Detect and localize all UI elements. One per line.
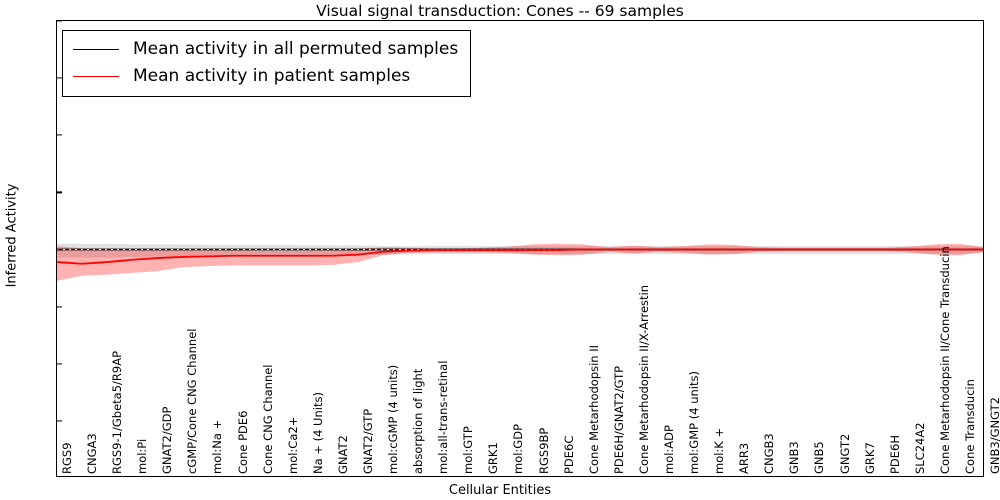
x-tick-label: cGMP/Cone CNG Channel xyxy=(185,329,199,474)
x-tick-mark xyxy=(182,476,183,477)
x-tick-label: PDE6H/GNAT2/GTP xyxy=(612,366,626,474)
x-tick-label: CNGB3 xyxy=(762,433,776,474)
chart-legend: Mean activity in all permuted samples Me… xyxy=(62,30,471,97)
legend-label-patient: Mean activity in patient samples xyxy=(133,68,410,85)
x-tick-mark xyxy=(107,476,108,477)
x-tick-label: GNAT2/GTP xyxy=(361,409,375,474)
x-tick-mark xyxy=(258,476,259,477)
x-tick-label: mol:GDP xyxy=(511,424,525,474)
x-tick-mark xyxy=(659,476,660,477)
x-tick-label: RGS9-1/Gbeta5/R9AP xyxy=(110,351,124,474)
x-tick-label: mol:cGMP (4 units) xyxy=(386,365,400,474)
y-tick-mark xyxy=(57,192,62,193)
x-tick-label: mol:K + xyxy=(712,428,726,474)
x-tick-mark xyxy=(458,476,459,477)
x-tick-mark xyxy=(835,476,836,477)
x-tick-mark xyxy=(709,476,710,477)
x-tick-label: mol:GMP (4 units) xyxy=(687,371,701,474)
x-tick-label: PDE6C xyxy=(562,436,576,474)
x-tick-mark xyxy=(684,476,685,477)
legend-swatch-permuted xyxy=(73,49,119,50)
x-tick-label: GNB5 xyxy=(812,441,826,474)
x-tick-label: Cone CNG Channel xyxy=(261,365,275,475)
chart-title: Visual signal transduction: Cones -- 69 … xyxy=(0,2,1000,20)
legend-item-patient: Mean activity in patient samples xyxy=(73,63,458,90)
x-tick-label: Cone Metarhodopsin II/X-Arrestin xyxy=(637,285,651,474)
x-axis-label: Cellular Entities xyxy=(0,483,1000,498)
x-tick-label: absorption of light xyxy=(411,369,425,474)
x-tick-label: mol:Ca2+ xyxy=(286,417,300,474)
y-tick-mark xyxy=(57,306,62,307)
y-tick-mark xyxy=(57,135,62,136)
x-tick-mark xyxy=(960,476,961,477)
x-tick-mark xyxy=(233,476,234,477)
x-tick-label: PDE6H xyxy=(888,435,902,474)
x-tick-label: GNB3/GNGT2 xyxy=(988,397,1000,474)
x-tick-mark xyxy=(508,476,509,477)
x-tick-mark xyxy=(609,476,610,477)
x-tick-label: GNB3 xyxy=(787,441,801,474)
x-tick-mark xyxy=(935,476,936,477)
x-tick-label: Cone Metarhodopsin II/Cone Transducin xyxy=(938,246,952,474)
x-tick-label: mol:Na + xyxy=(210,420,224,474)
legend-label-permuted: Mean activity in all permuted samples xyxy=(133,41,458,58)
x-tick-mark xyxy=(534,476,535,477)
legend-swatch-patient xyxy=(73,76,119,77)
x-tick-mark xyxy=(408,476,409,477)
x-tick-mark xyxy=(333,476,334,477)
x-tick-mark xyxy=(132,476,133,477)
x-tick-mark xyxy=(584,476,585,477)
x-tick-mark xyxy=(734,476,735,477)
x-tick-mark xyxy=(308,476,309,477)
x-tick-mark xyxy=(559,476,560,477)
x-tick-label: RGS9 xyxy=(60,442,74,474)
x-tick-mark xyxy=(809,476,810,477)
x-tick-mark xyxy=(57,476,58,477)
x-tick-label: GRK7 xyxy=(863,442,877,474)
chart-figure: Visual signal transduction: Cones -- 69 … xyxy=(0,0,1000,500)
x-tick-label: GNGT2 xyxy=(838,434,852,474)
x-tick-label: CNGA3 xyxy=(85,433,99,474)
x-tick-label: Cone Metarhodopsin II xyxy=(587,345,601,474)
x-tick-label: ARR3 xyxy=(737,443,751,474)
x-tick-mark xyxy=(82,476,83,477)
x-tick-label: Cone Transducin xyxy=(963,379,977,474)
x-tick-label: mol:GTP xyxy=(461,426,475,474)
x-tick-mark xyxy=(885,476,886,477)
x-tick-mark xyxy=(483,476,484,477)
x-tick-label: GNAT2 xyxy=(336,435,350,474)
x-tick-mark xyxy=(860,476,861,477)
x-tick-label: Na + (4 Units) xyxy=(311,392,325,474)
x-tick-mark xyxy=(759,476,760,477)
x-tick-mark xyxy=(207,476,208,477)
x-tick-mark xyxy=(784,476,785,477)
y-axis-label: Inferred Activity xyxy=(5,136,20,336)
x-tick-label: GRK1 xyxy=(486,442,500,474)
x-tick-label: mol:Pi xyxy=(135,439,149,474)
y-tick-mark xyxy=(57,420,62,421)
x-tick-label: RGS9BP xyxy=(537,428,551,474)
x-tick-mark xyxy=(910,476,911,477)
y-tick-mark xyxy=(57,20,62,21)
x-tick-label: mol:all-trans-retinal xyxy=(436,361,450,474)
x-tick-mark xyxy=(634,476,635,477)
x-tick-mark xyxy=(433,476,434,477)
x-tick-label: SLC24A2 xyxy=(913,422,927,474)
x-tick-label: GNAT2/GDP xyxy=(160,407,174,474)
x-tick-mark xyxy=(383,476,384,477)
x-tick-mark xyxy=(157,476,158,477)
y-tick-mark xyxy=(57,249,62,250)
x-tick-label: Cone PDE6 xyxy=(236,411,250,474)
x-tick-mark xyxy=(283,476,284,477)
x-tick-mark xyxy=(358,476,359,477)
legend-item-permuted: Mean activity in all permuted samples xyxy=(73,36,458,63)
x-tick-label: mol:ADP xyxy=(662,425,676,474)
y-tick-mark xyxy=(57,363,62,364)
